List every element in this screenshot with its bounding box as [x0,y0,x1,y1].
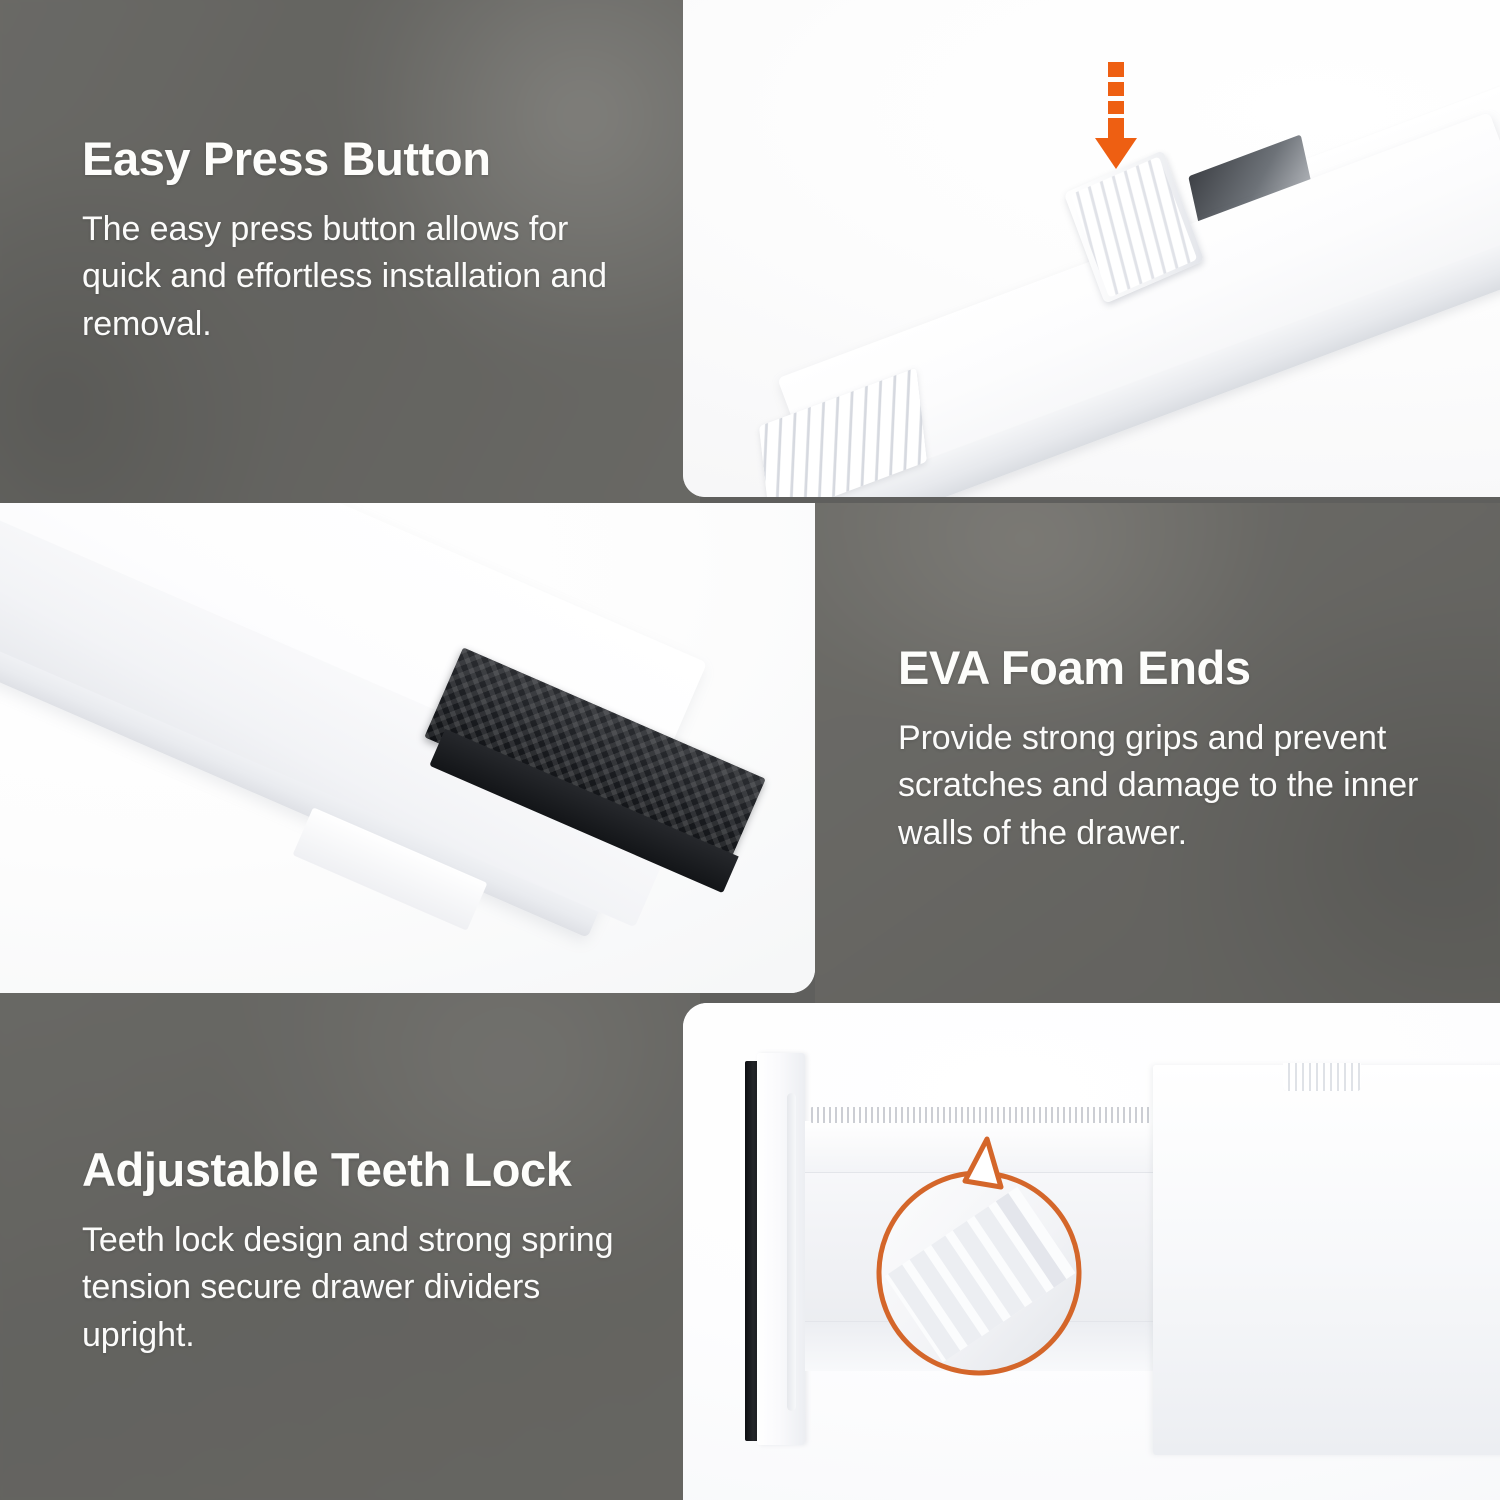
feature-text-block: EVA Foam Ends Provide strong grips and p… [898,643,1458,858]
magnifier-callout-icon [859,1131,1099,1381]
feature-title: EVA Foam Ends [898,643,1458,693]
feature-description: Provide strong grips and prevent scratch… [898,715,1458,858]
feature-text-block: Easy Press Button The easy press button … [82,134,642,349]
feature-description: Teeth lock design and strong spring tens… [82,1217,642,1360]
feature-text-panel-eva-foam-ends: EVA Foam Ends Provide strong grips and p… [815,503,1500,1003]
feature-text-block: Adjustable Teeth Lock Teeth lock design … [82,1145,642,1360]
photo-backdrop [683,1003,1500,1500]
feature-title: Adjustable Teeth Lock [82,1145,642,1195]
infographic-canvas: Easy Press Button The easy press button … [0,0,1500,1500]
divider-release-tab-ribs [1283,1063,1361,1091]
divider-release-tab [1283,1063,1361,1091]
divider-end-wall-groove [787,1093,796,1411]
feature-title: Easy Press Button [82,134,642,184]
divider-end-wall [757,1053,805,1445]
feature-text-panel-easy-press-button: Easy Press Button The easy press button … [0,0,700,503]
down-arrow-icon [1093,62,1139,170]
feature-photo-eva-foam [0,503,815,993]
feature-photo-press-button [683,0,1500,497]
teeth-rack-strip [811,1107,1156,1123]
feature-description: The easy press button allows for quick a… [82,206,642,349]
feature-photo-teeth-lock [683,1003,1500,1500]
photo-backdrop [683,0,1500,497]
divider-main-body [1153,1065,1500,1455]
photo-backdrop [0,503,815,993]
feature-text-panel-adjustable-teeth-lock: Adjustable Teeth Lock Teeth lock design … [0,993,700,1500]
